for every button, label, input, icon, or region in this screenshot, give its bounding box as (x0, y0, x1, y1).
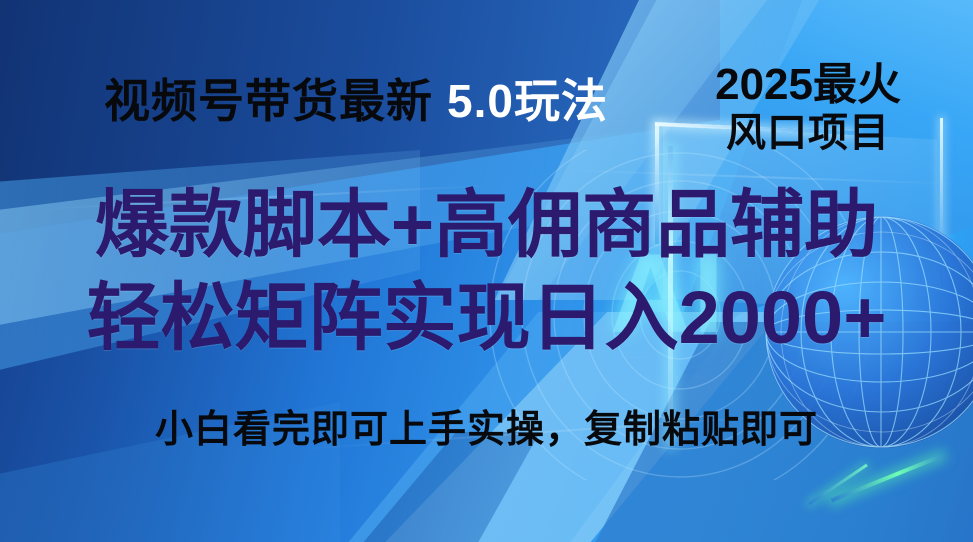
promo-banner: AI 视频号带货最新 5.0玩法 2025最火 风口项目 爆款脚本+高佣商品辅助… (0, 0, 973, 542)
subline-text: 小白看完即可上手实操，复制粘贴即可 (0, 398, 973, 453)
badge-2025-hot: 2025最火 风口项目 (715, 62, 901, 158)
kicker-line: 视频号带货最新 5.0玩法 (104, 78, 608, 124)
headline-line-1: 爆款脚本+高佣商品辅助 (0, 178, 973, 271)
badge-line-1: 2025最火 (715, 62, 901, 108)
headline-line-2: 轻松矩阵实现日入2000+ (0, 271, 973, 364)
kicker-black-text: 视频号带货最新 (104, 78, 433, 124)
text-layer: 视频号带货最新 5.0玩法 2025最火 风口项目 爆款脚本+高佣商品辅助 轻松… (0, 0, 973, 542)
kicker-white-text: 5.0玩法 (447, 78, 608, 124)
badge-line-2: 风口项目 (715, 108, 901, 158)
headline-block: 爆款脚本+高佣商品辅助 轻松矩阵实现日入2000+ (0, 178, 973, 364)
